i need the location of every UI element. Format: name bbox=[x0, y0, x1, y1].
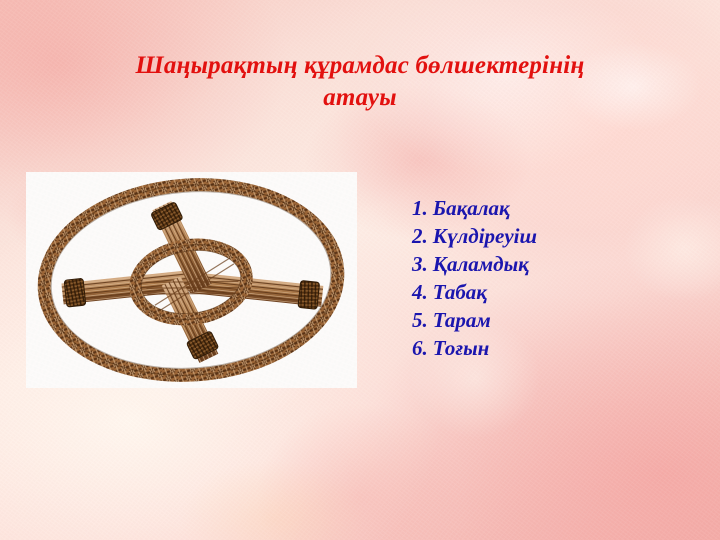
item-label: Күлдіреуіш bbox=[433, 224, 537, 248]
presentation-slide: Шаңырақтың құрамдас бөлшектерінің атауы bbox=[0, 0, 720, 540]
list-item: 2.Күлдіреуіш bbox=[412, 222, 537, 250]
list-item: 3.Қаламдық bbox=[412, 250, 537, 278]
list-item: 1.Бақалақ bbox=[412, 194, 537, 222]
item-label: Бақалақ bbox=[433, 196, 510, 220]
item-label: Тоғын bbox=[433, 336, 490, 360]
list-item: 5.Тарам bbox=[412, 306, 537, 334]
item-number: 4. bbox=[412, 280, 428, 304]
item-label: Тарам bbox=[433, 308, 491, 332]
slide-title: Шаңырақтың құрамдас бөлшектерінің атауы bbox=[60, 50, 660, 113]
item-number: 3. bbox=[412, 252, 428, 276]
item-number: 2. bbox=[412, 224, 428, 248]
item-number: 6. bbox=[412, 336, 428, 360]
item-number: 1. bbox=[412, 196, 428, 220]
item-label: Қаламдық bbox=[433, 252, 529, 276]
list-item: 6.Тоғын bbox=[412, 334, 537, 362]
item-label: Табақ bbox=[433, 280, 487, 304]
illustration-panel bbox=[26, 172, 357, 388]
item-number: 5. bbox=[412, 308, 428, 332]
shanyrak-illustration bbox=[26, 172, 357, 388]
list-item: 4.Табақ bbox=[412, 278, 537, 306]
parts-list: 1.Бақалақ 2.Күлдіреуіш 3.Қаламдық 4.Таба… bbox=[412, 194, 537, 362]
